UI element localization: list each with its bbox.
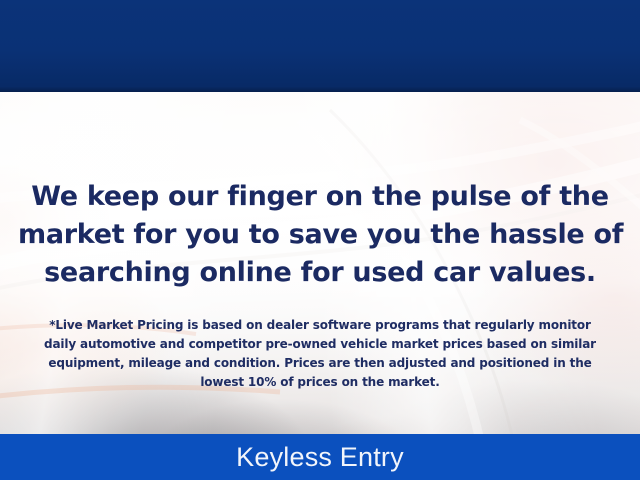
footer-banner: Keyless Entry (0, 434, 640, 480)
disclaimer-line: *Live Market Pricing is based on dealer … (28, 316, 612, 335)
disclaimer-line: daily automotive and competitor pre-owne… (28, 335, 612, 354)
header-banner (0, 0, 640, 92)
headline-message: We keep our finger on the pulse of the m… (18, 178, 622, 292)
headline-line: market for you to save you the hassle of (18, 216, 622, 254)
disclaimer-text: *Live Market Pricing is based on dealer … (28, 316, 612, 392)
disclaimer-line: lowest 10% of prices on the market. (28, 373, 612, 392)
disclaimer-line: equipment, mileage and condition. Prices… (28, 354, 612, 373)
marketing-slide: Live Market Pricing* We keep our finger … (0, 0, 640, 480)
headline-line: searching online for used car values. (18, 254, 622, 292)
headline-line: We keep our finger on the pulse of the (18, 178, 622, 216)
footer-feature-label: Keyless Entry (236, 444, 404, 471)
